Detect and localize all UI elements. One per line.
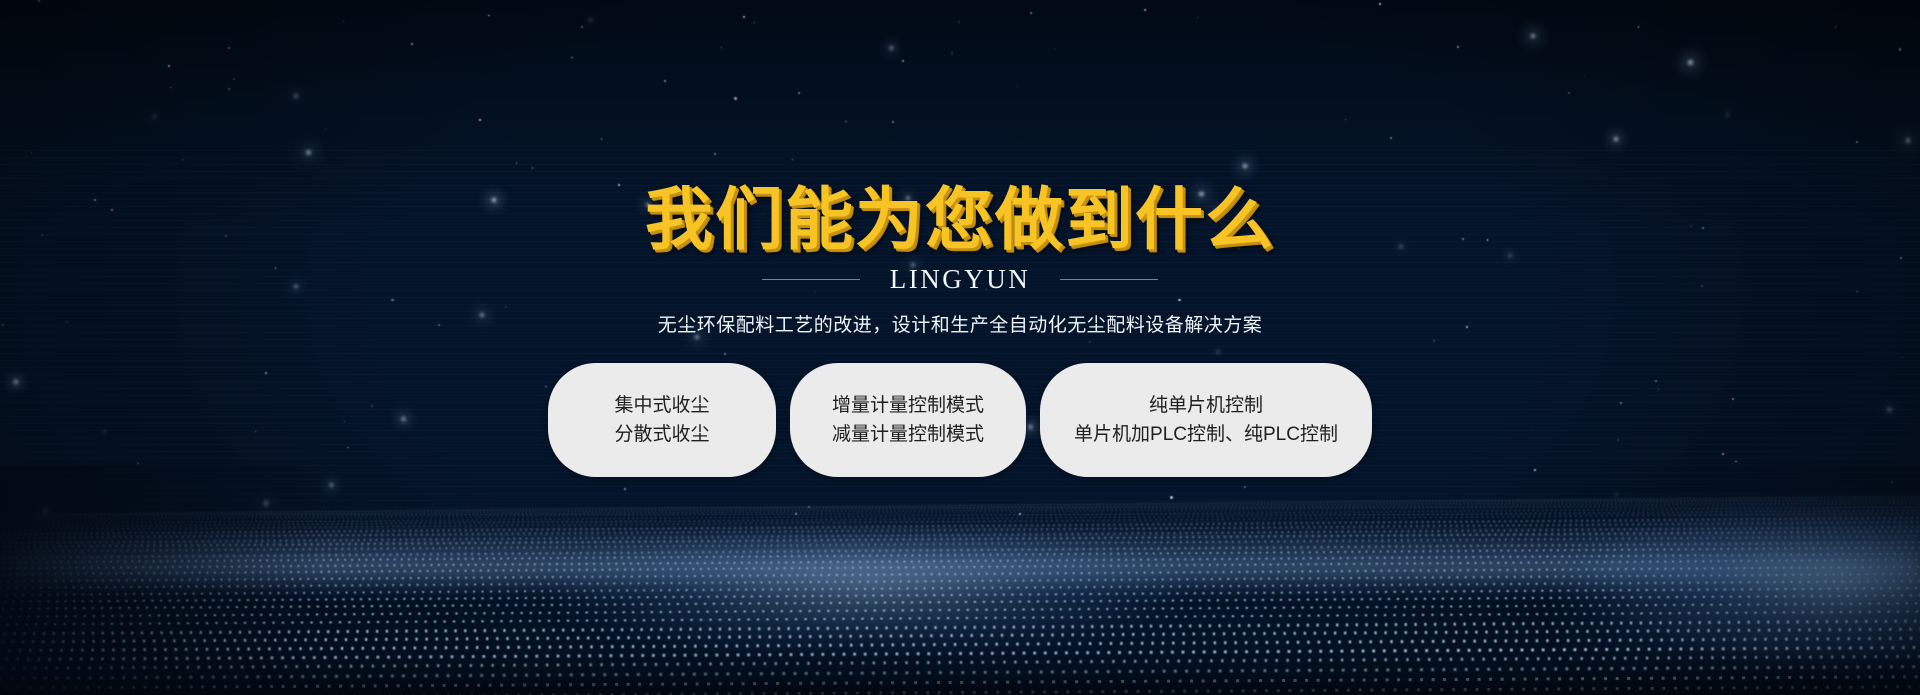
page-subtitle: 无尘环保配料工艺的改进，设计和生产全自动化无尘配料设备解决方案 (0, 310, 1920, 337)
pill-line-secondary: 单片机加PLC控制、纯PLC控制 (1074, 424, 1338, 446)
divider-left (762, 279, 860, 280)
page-title: 我们能为您做到什么 (0, 186, 1920, 254)
feature-pill-dust-collection[interactable]: 集中式收尘 分散式收尘 (548, 363, 776, 477)
pill-line-secondary: 减量计量控制模式 (832, 424, 984, 446)
feature-pill-metering-mode[interactable]: 增量计量控制模式 减量计量控制模式 (790, 363, 1026, 477)
feature-pill-control-system[interactable]: 纯单片机控制 单片机加PLC控制、纯PLC控制 (1040, 363, 1372, 477)
brand-row: LINGYUN (0, 264, 1920, 295)
feature-pill-list: 集中式收尘 分散式收尘 增量计量控制模式 减量计量控制模式 纯单片机控制 单片机… (0, 363, 1920, 477)
pill-line-primary: 集中式收尘 (615, 395, 710, 417)
divider-right (1060, 279, 1158, 280)
brand-name: LINGYUN (890, 264, 1030, 295)
banner-content: 我们能为您做到什么 LINGYUN 无尘环保配料工艺的改进，设计和生产全自动化无… (0, 0, 1920, 695)
pill-line-primary: 增量计量控制模式 (832, 395, 984, 417)
pill-line-primary: 纯单片机控制 (1149, 395, 1263, 417)
hero-banner: 我们能为您做到什么 LINGYUN 无尘环保配料工艺的改进，设计和生产全自动化无… (0, 0, 1920, 695)
pill-line-secondary: 分散式收尘 (615, 424, 710, 446)
